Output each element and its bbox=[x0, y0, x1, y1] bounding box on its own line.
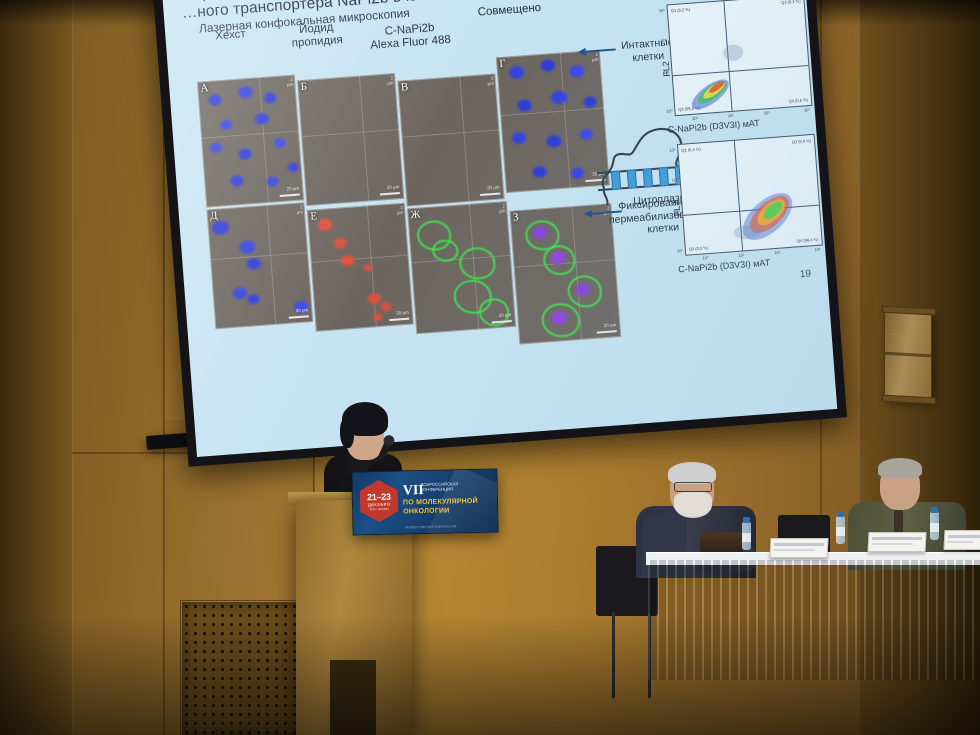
presentation-slide: …ции С-концевого домена натрий-зависимог… bbox=[162, 0, 838, 457]
name-card-2-text bbox=[872, 537, 922, 540]
wall-speaker-box: ∙∙∙∙ bbox=[884, 309, 932, 402]
panel-label-e: Е bbox=[310, 210, 318, 222]
conference-hall-photo: ∙∙∙∙ …ции С-концевого домена натрий-зави… bbox=[0, 0, 980, 735]
panel-corner-tick-e: 2µm bbox=[396, 205, 403, 215]
flow-plot-1: Q1 (0,2 %) Q2 (0,1 %) Q3 (99,2 %) Q4 (0,… bbox=[666, 0, 812, 116]
water-bottle-3 bbox=[930, 512, 939, 540]
micrograph-panel-g: Г 2µm bbox=[496, 50, 610, 193]
banner-footer: МОЛЕКУЛЯРНАЯ ОНКОЛОГИЯ bbox=[405, 524, 456, 529]
panel-label-z: З bbox=[513, 211, 519, 223]
flow-plot-2-density bbox=[678, 135, 822, 255]
membrane-helix-3 bbox=[643, 168, 653, 188]
panel-label-g: Г bbox=[499, 58, 506, 70]
panelist-right-hair bbox=[878, 458, 922, 478]
micrograph-grid: А 2µm Б bbox=[195, 28, 616, 357]
banner-date-badge: 21–23 ДЕКАБРЯ 2022 • МОСКВА bbox=[360, 480, 399, 523]
conference-banner[interactable]: 21–23 ДЕКАБРЯ 2022 • МОСКВА VII ВСЕРОССИ… bbox=[351, 468, 498, 535]
water-bottle-2 bbox=[836, 516, 845, 544]
column-header-merged: Совмещено bbox=[464, 1, 555, 21]
membrane-helix-1 bbox=[611, 170, 621, 190]
panel-scalebar-z bbox=[597, 330, 617, 333]
panelist-left-hair bbox=[668, 462, 716, 484]
name-card-2 bbox=[867, 532, 926, 552]
banner-date-month: ДЕКАБРЯ bbox=[368, 501, 390, 506]
panelist-left-glasses bbox=[674, 482, 712, 492]
flow-plot-2-xaxis: C-NaPi2b (D3V3I) мАТ bbox=[678, 257, 771, 274]
arrow-fixed-left-head bbox=[584, 210, 593, 219]
panel-scalebar-v bbox=[480, 193, 500, 196]
name-card-3-text bbox=[948, 535, 980, 538]
banner-date-year: 2022 • МОСКВА bbox=[370, 507, 389, 510]
membrane-helix-4 bbox=[659, 167, 669, 187]
panel-corner-tick-a: 2µm bbox=[286, 77, 293, 87]
banner-title-line2: ОНКОЛОГИИ bbox=[403, 507, 449, 515]
floor-shadow bbox=[0, 615, 980, 735]
panel-label-b: Б bbox=[300, 81, 307, 93]
micrograph-panel-d: Д 2µm bbox=[207, 202, 314, 329]
panel-corner-tick-g: 2µm bbox=[591, 52, 598, 62]
micrograph-panel-v: В 2µm bbox=[397, 74, 504, 207]
banner-title: ПО МОЛЕКУЛЯРНОЙ ОНКОЛОГИИ bbox=[403, 498, 478, 517]
panel-label-zh: Ж bbox=[410, 209, 421, 222]
micrograph-panel-zh: Ж 2µm bbox=[407, 201, 516, 334]
speaker-hair-side bbox=[340, 418, 354, 448]
panel-corner-tick-zh: 2µm bbox=[499, 203, 506, 213]
arrow-intact-left-head bbox=[577, 48, 586, 57]
panel-label-v: В bbox=[400, 81, 408, 94]
flow-plot-1-density bbox=[668, 0, 812, 115]
flow-plot-2: Q1 (0,4 %) Q2 (0,4 %) Q3 (0,3 %) Q4 (98,… bbox=[677, 134, 823, 256]
panel-scalebar-a bbox=[280, 194, 300, 197]
panel-scalebar-d bbox=[289, 315, 309, 318]
panel-corner-tick-d: 2µm bbox=[296, 204, 303, 214]
panel-corner-tick-v: 2µm bbox=[487, 76, 494, 86]
micrograph-panel-b: Б 2µm bbox=[297, 73, 404, 206]
membrane-helix-2 bbox=[627, 169, 637, 189]
name-card-1 bbox=[769, 538, 828, 558]
name-card-1-text bbox=[774, 543, 824, 546]
panel-scalebar-e bbox=[389, 318, 409, 321]
name-card-3 bbox=[943, 530, 980, 550]
projection-screen: …ции С-концевого домена натрий-зависимог… bbox=[152, 0, 847, 467]
panelist-left-object bbox=[700, 532, 744, 554]
water-bottle-1 bbox=[742, 522, 751, 550]
wall-speaker-logo: ∙∙∙∙ bbox=[889, 332, 898, 338]
banner-kicker: ВСЕРОССИЙСКАЯКОНФЕРЕНЦИЯ bbox=[421, 481, 491, 492]
panel-label-a: А bbox=[200, 82, 209, 95]
micrograph-panel-e: Е 2µm bbox=[307, 203, 414, 332]
panelist-left-beard bbox=[674, 492, 712, 518]
panel-label-d: Д bbox=[210, 210, 218, 223]
slide-number: 19 bbox=[800, 268, 821, 406]
banner-date-day: 21–23 bbox=[367, 491, 391, 501]
panel-scalebar-b bbox=[380, 192, 400, 195]
banner-title-line1: ПО МОЛЕКУЛЯРНОЙ bbox=[403, 498, 478, 507]
panel-corner-tick-b: 2µm bbox=[387, 75, 394, 85]
micrograph-panel-a: А 2µm bbox=[197, 75, 304, 208]
